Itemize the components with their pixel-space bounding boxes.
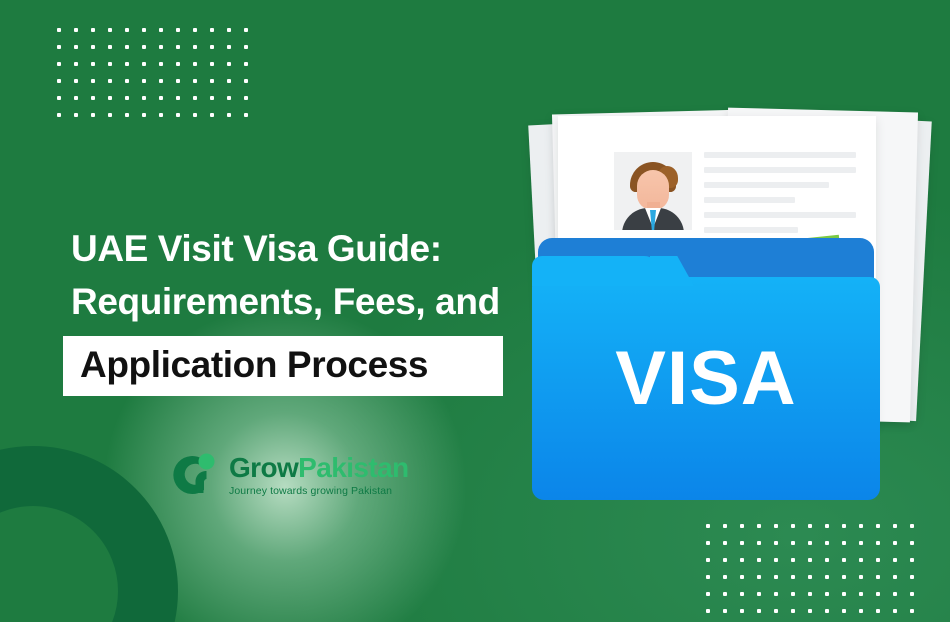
dot bbox=[910, 592, 914, 596]
dot bbox=[876, 575, 880, 579]
dot bbox=[825, 592, 829, 596]
dot bbox=[125, 28, 129, 32]
dot bbox=[808, 592, 812, 596]
dot bbox=[176, 79, 180, 83]
dot bbox=[193, 45, 197, 49]
dot bbox=[774, 592, 778, 596]
dot bbox=[57, 113, 61, 117]
dot bbox=[142, 62, 146, 66]
dot bbox=[910, 524, 914, 528]
dot bbox=[125, 62, 129, 66]
dot bbox=[159, 96, 163, 100]
dot bbox=[791, 592, 795, 596]
dot bbox=[842, 592, 846, 596]
dot bbox=[825, 609, 829, 613]
logo-wordmark: GrowPakistan bbox=[229, 454, 409, 482]
dot bbox=[176, 62, 180, 66]
dot bbox=[210, 96, 214, 100]
dot bbox=[159, 79, 163, 83]
document-text-line bbox=[704, 182, 829, 188]
dot bbox=[706, 558, 710, 562]
dot bbox=[176, 96, 180, 100]
dot bbox=[859, 592, 863, 596]
dot bbox=[876, 524, 880, 528]
dot bbox=[910, 541, 914, 545]
dot bbox=[893, 609, 897, 613]
dot bbox=[893, 524, 897, 528]
dot bbox=[842, 609, 846, 613]
dot bbox=[193, 62, 197, 66]
document-text-line bbox=[704, 167, 856, 173]
dot bbox=[706, 524, 710, 528]
dot bbox=[723, 558, 727, 562]
dot bbox=[842, 524, 846, 528]
dot bbox=[125, 113, 129, 117]
dot bbox=[723, 592, 727, 596]
dot bbox=[859, 558, 863, 562]
dot bbox=[808, 524, 812, 528]
dot bbox=[859, 575, 863, 579]
folder-label-visa: VISA bbox=[532, 341, 880, 417]
folder-front-panel: VISA bbox=[532, 277, 880, 500]
dot bbox=[774, 558, 778, 562]
dot bbox=[227, 45, 231, 49]
dot bbox=[210, 79, 214, 83]
dot bbox=[910, 575, 914, 579]
dot bbox=[740, 575, 744, 579]
dot bbox=[910, 609, 914, 613]
dot bbox=[757, 592, 761, 596]
document-text-lines-top bbox=[704, 152, 856, 242]
dot bbox=[842, 541, 846, 545]
dot bbox=[227, 113, 231, 117]
dot bbox=[159, 28, 163, 32]
dot bbox=[91, 79, 95, 83]
dot bbox=[859, 524, 863, 528]
dot bbox=[808, 541, 812, 545]
dot bbox=[740, 609, 744, 613]
dot bbox=[876, 558, 880, 562]
dot bbox=[91, 45, 95, 49]
logo-word-grow: Grow bbox=[229, 452, 298, 483]
dot bbox=[210, 113, 214, 117]
dot bbox=[876, 609, 880, 613]
dot bbox=[791, 575, 795, 579]
dot bbox=[74, 79, 78, 83]
dot bbox=[91, 96, 95, 100]
dot bbox=[91, 113, 95, 117]
dot bbox=[825, 524, 829, 528]
dot bbox=[125, 79, 129, 83]
dot bbox=[774, 609, 778, 613]
dot bbox=[57, 45, 61, 49]
dot bbox=[57, 79, 61, 83]
dot bbox=[740, 592, 744, 596]
dot bbox=[244, 62, 248, 66]
dot bbox=[893, 592, 897, 596]
dot bbox=[74, 62, 78, 66]
dot bbox=[774, 575, 778, 579]
document-text-line bbox=[704, 152, 856, 158]
dot bbox=[142, 96, 146, 100]
dot bbox=[791, 558, 795, 562]
dot bbox=[176, 45, 180, 49]
dot bbox=[227, 28, 231, 32]
dot bbox=[125, 96, 129, 100]
dot bbox=[893, 558, 897, 562]
headline-highlight-box: Application Process bbox=[71, 336, 503, 396]
dot bbox=[244, 79, 248, 83]
grow-pakistan-g-person-icon bbox=[166, 448, 220, 502]
dot bbox=[723, 609, 727, 613]
dot bbox=[706, 541, 710, 545]
dot bbox=[210, 62, 214, 66]
dot bbox=[108, 45, 112, 49]
dot bbox=[808, 558, 812, 562]
dot bbox=[244, 45, 248, 49]
dot bbox=[227, 79, 231, 83]
dot bbox=[142, 113, 146, 117]
dot bbox=[910, 558, 914, 562]
document-text-line bbox=[704, 227, 798, 233]
dot bbox=[108, 28, 112, 32]
dot bbox=[193, 28, 197, 32]
dot bbox=[723, 524, 727, 528]
dot bbox=[757, 609, 761, 613]
dot bbox=[893, 541, 897, 545]
dot bbox=[825, 541, 829, 545]
dot bbox=[825, 558, 829, 562]
dot bbox=[57, 28, 61, 32]
dot bbox=[193, 79, 197, 83]
visa-folder-illustration: APPROVED VISA bbox=[528, 100, 928, 520]
dot bbox=[740, 541, 744, 545]
dot bbox=[893, 575, 897, 579]
dot bbox=[227, 96, 231, 100]
dot bbox=[74, 45, 78, 49]
dot bbox=[108, 96, 112, 100]
dot bbox=[193, 96, 197, 100]
dot bbox=[74, 96, 78, 100]
banner-canvas: UAE Visit Visa Guide: Requirements, Fees… bbox=[0, 0, 950, 622]
dot bbox=[757, 558, 761, 562]
dot bbox=[825, 575, 829, 579]
dot bbox=[791, 609, 795, 613]
logo-tagline: Journey towards growing Pakistan bbox=[229, 486, 409, 497]
dot bbox=[723, 575, 727, 579]
dot bbox=[108, 62, 112, 66]
dot bbox=[125, 45, 129, 49]
dot bbox=[774, 541, 778, 545]
dot bbox=[859, 541, 863, 545]
dot bbox=[808, 609, 812, 613]
dot bbox=[108, 113, 112, 117]
dot bbox=[876, 592, 880, 596]
dot bbox=[774, 524, 778, 528]
dot bbox=[210, 45, 214, 49]
dot bbox=[91, 28, 95, 32]
logo-word-pakistan: Pakistan bbox=[298, 452, 408, 483]
document-text-line bbox=[704, 197, 795, 203]
dot bbox=[244, 28, 248, 32]
dot bbox=[244, 96, 248, 100]
dot bbox=[740, 524, 744, 528]
dot bbox=[859, 609, 863, 613]
dot bbox=[757, 524, 761, 528]
dot bbox=[193, 113, 197, 117]
ring-arc-decoration bbox=[0, 446, 178, 622]
dot bbox=[159, 113, 163, 117]
dot bbox=[757, 575, 761, 579]
brand-logo[interactable]: GrowPakistan Journey towards growing Pak… bbox=[166, 448, 409, 502]
dot bbox=[57, 62, 61, 66]
dot bbox=[142, 79, 146, 83]
dot bbox=[723, 541, 727, 545]
headline-line-3: Application Process bbox=[63, 336, 445, 396]
dot bbox=[176, 28, 180, 32]
dot bbox=[142, 45, 146, 49]
dot bbox=[142, 28, 146, 32]
dot bbox=[227, 62, 231, 66]
dot bbox=[91, 62, 95, 66]
dot bbox=[108, 79, 112, 83]
dot bbox=[74, 28, 78, 32]
dot bbox=[57, 96, 61, 100]
dot bbox=[74, 113, 78, 117]
dot bbox=[842, 558, 846, 562]
dot bbox=[706, 575, 710, 579]
document-text-line bbox=[704, 212, 856, 218]
dot bbox=[210, 28, 214, 32]
dot bbox=[740, 558, 744, 562]
logo-text-block: GrowPakistan Journey towards growing Pak… bbox=[229, 454, 409, 497]
dot bbox=[842, 575, 846, 579]
passport-photo-person-icon bbox=[614, 152, 692, 230]
dot bbox=[159, 62, 163, 66]
dot bbox=[757, 541, 761, 545]
dot bbox=[791, 541, 795, 545]
dot bbox=[176, 113, 180, 117]
dot bbox=[706, 609, 710, 613]
dot bbox=[706, 592, 710, 596]
dot bbox=[876, 541, 880, 545]
dot bbox=[808, 575, 812, 579]
dot bbox=[159, 45, 163, 49]
dot bbox=[791, 524, 795, 528]
dot bbox=[244, 113, 248, 117]
